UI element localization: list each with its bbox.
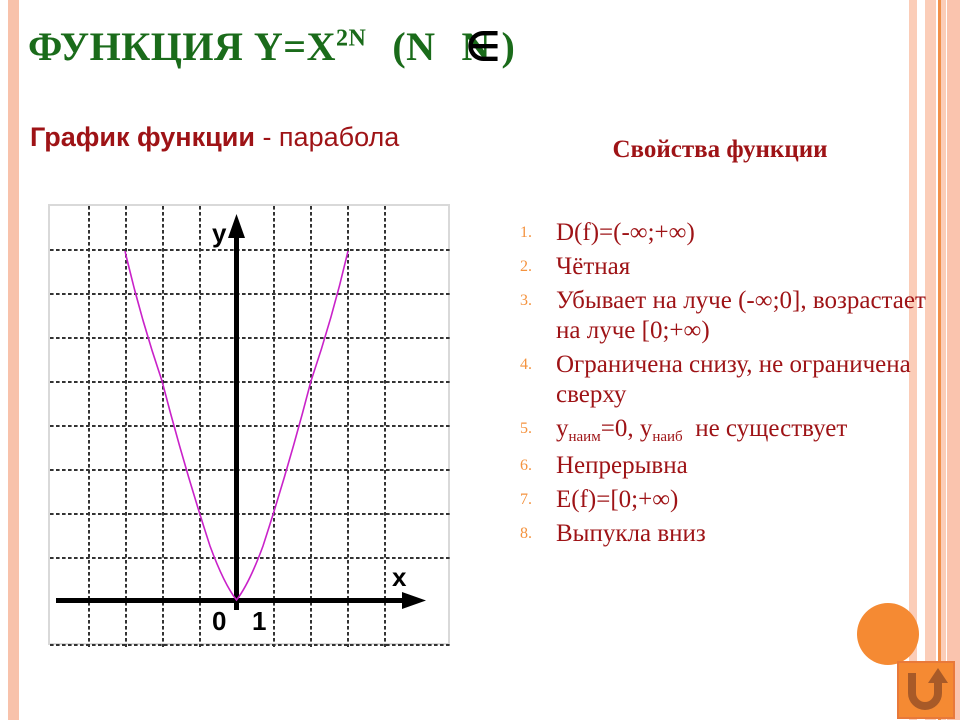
- list-item-text: E(f)=[0;+∞): [556, 485, 932, 515]
- list-item: 7. E(f)=[0;+∞): [512, 485, 932, 515]
- list-item-number: 7.: [512, 485, 556, 515]
- origin-tick-label: 0: [212, 606, 226, 636]
- list-item-number: 6.: [512, 451, 556, 481]
- list-item-text: Выпукла вниз: [556, 519, 932, 549]
- title-set-membership: N∈: [462, 18, 502, 76]
- orange-circle-decoration: [857, 603, 919, 665]
- parabola-graph: y x 0 1: [48, 204, 450, 645]
- list-item-number: 1.: [512, 218, 556, 248]
- list-item-text: Непрерывна: [556, 451, 932, 481]
- x-axis-label: x: [392, 562, 407, 592]
- right-edge-stripe-4: [947, 0, 960, 720]
- properties-list: 1. D(f)=(-∞;+∞) 2. Чётная 3. Убывает на …: [512, 218, 932, 553]
- element-of-icon: ∈: [466, 18, 501, 76]
- list-item-text-minmax: yнаим=0, yнаиб не существует: [556, 414, 932, 447]
- unit-tick-label: 1: [252, 606, 266, 636]
- list-item: 1. D(f)=(-∞;+∞): [512, 218, 932, 248]
- graph-canvas: y x 0 1: [50, 206, 452, 647]
- right-edge-stripe-3: [941, 0, 946, 720]
- list-item: 6. Непрерывна: [512, 451, 932, 481]
- left-edge-stripe: [8, 0, 19, 720]
- list-item: 2. Чётная: [512, 252, 932, 282]
- y-axis-label: y: [212, 218, 227, 248]
- list-item-number: 3.: [512, 286, 556, 316]
- list-item: 4. Ограничена снизу, не ограничена сверх…: [512, 350, 932, 410]
- u-turn-arrow-icon: [899, 663, 953, 717]
- list-item-text: Ограничена снизу, не ограничена сверху: [556, 350, 932, 410]
- title-paren-close: ): [502, 24, 516, 69]
- properties-heading: Свойства функции: [520, 136, 920, 164]
- list-item-text: Чётная: [556, 252, 932, 282]
- list-item: 8. Выпукла вниз: [512, 519, 932, 549]
- graph-subtitle-regular: - парабола: [255, 122, 399, 152]
- list-item-number: 5.: [512, 414, 556, 444]
- title-paren-open: (N: [392, 24, 435, 69]
- list-item-text: Убывает на луче (-∞;0], возрастает на лу…: [556, 286, 932, 346]
- list-item-number: 2.: [512, 252, 556, 282]
- title-prefix: ФУНКЦИЯ Y=X: [28, 24, 336, 69]
- list-item-text: D(f)=(-∞;+∞): [556, 218, 932, 248]
- return-button[interactable]: [897, 661, 955, 719]
- graph-subtitle-bold: График функции: [30, 122, 255, 152]
- y-axis: [228, 214, 245, 610]
- list-item: 5. yнаим=0, yнаиб не существует: [512, 414, 932, 447]
- graph-subtitle: График функции - парабола: [30, 122, 399, 153]
- list-item-number: 4.: [512, 350, 556, 380]
- list-item: 3. Убывает на луче (-∞;0], возрастает на…: [512, 286, 932, 346]
- page-title: ФУНКЦИЯ Y=X2N(NN∈): [28, 18, 668, 80]
- title-superscript: 2N: [336, 26, 366, 52]
- list-item-number: 8.: [512, 519, 556, 549]
